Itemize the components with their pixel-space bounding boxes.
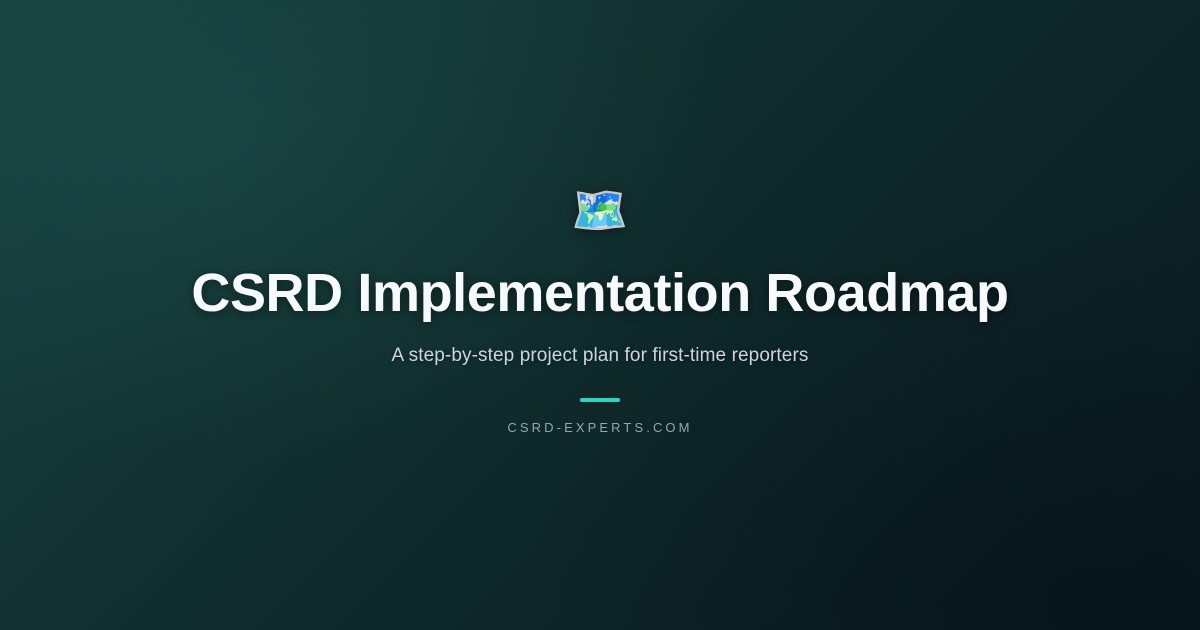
og-share-card: 🗺️ CSRD Implementation Roadmap A step-by… [0,0,1200,630]
accent-divider [580,398,620,402]
card-content: 🗺️ CSRD Implementation Roadmap A step-by… [60,187,1140,434]
page-title: CSRD Implementation Roadmap [191,263,1008,323]
footer-domain-label: CSRD-EXPERTS.COM [507,420,692,435]
page-subtitle: A step-by-step project plan for first-ti… [391,343,808,370]
world-map-icon: 🗺️ [571,187,628,237]
